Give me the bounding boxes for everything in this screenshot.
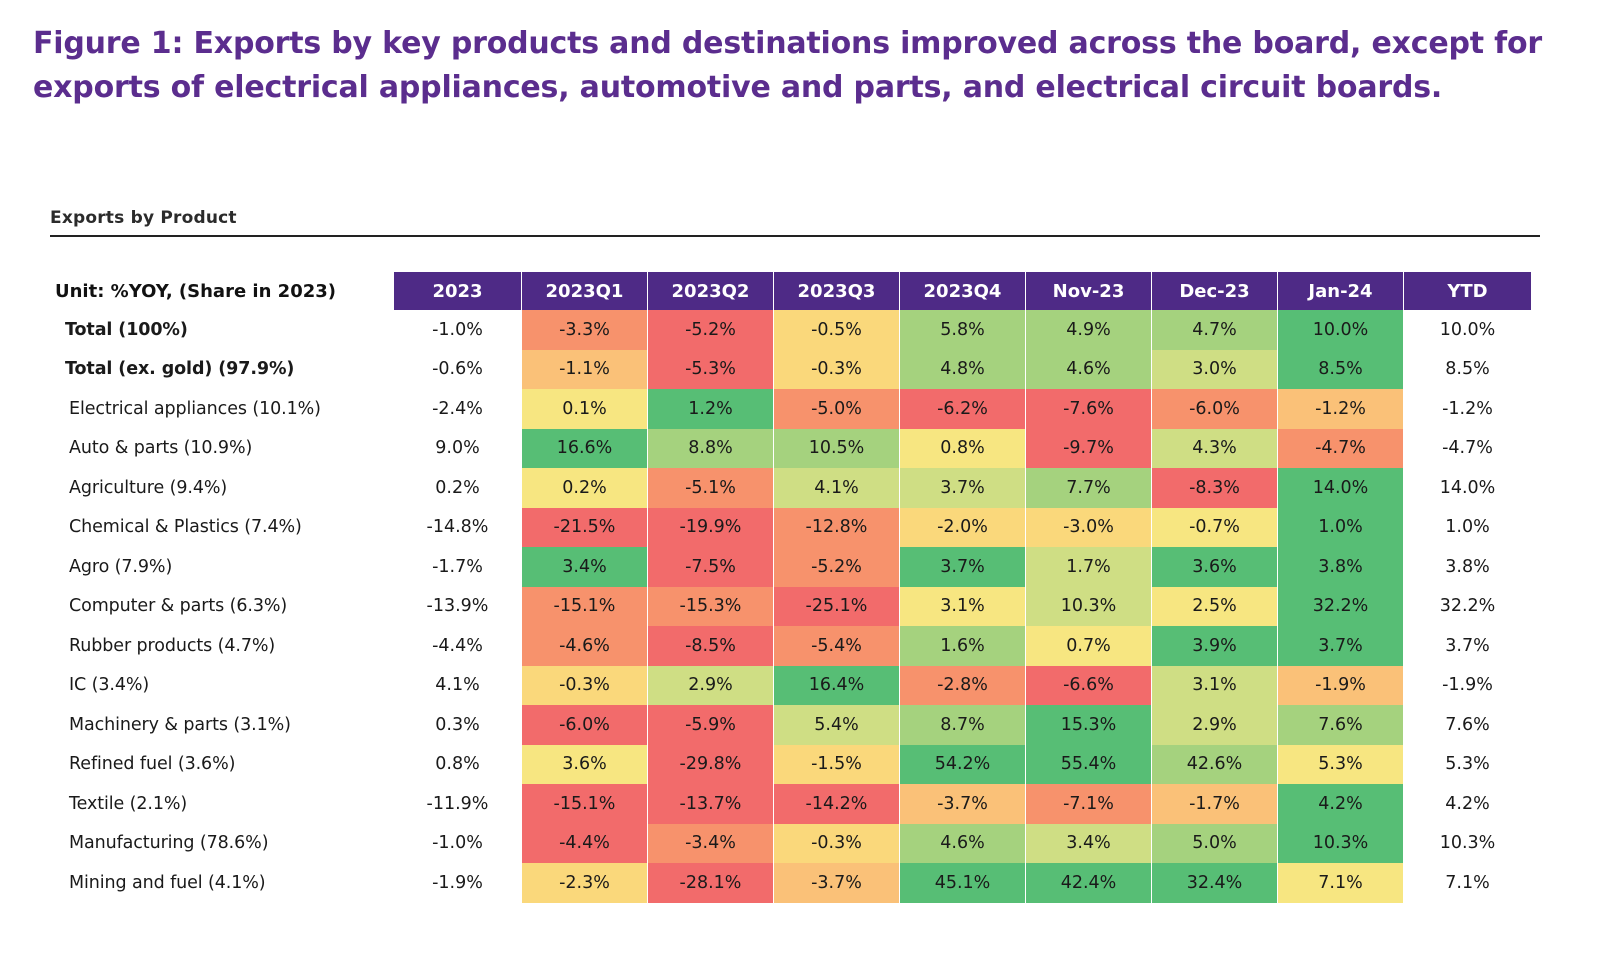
cell-value: 55.4% [1026, 745, 1151, 785]
cell-value: 32.2% [1404, 587, 1531, 627]
cell-value: 4.8% [900, 350, 1025, 390]
table-row: Chemical & Plastics (7.4%)-14.8%-21.5%-1… [51, 508, 1531, 548]
cell-value: 14.0% [1278, 468, 1403, 508]
section-label: Exports by Product [50, 208, 1540, 235]
cell-value: -2.3% [522, 863, 647, 903]
cell-value: 5.0% [1152, 824, 1277, 864]
cell-value: 15.3% [1026, 705, 1151, 745]
cell-value: 10.3% [1026, 587, 1151, 627]
cell-value: -6.2% [900, 389, 1025, 429]
cell-value: -15.1% [522, 784, 647, 824]
table-row: Textile (2.1%)-11.9%-15.1%-13.7%-14.2%-3… [51, 784, 1531, 824]
cell-value: 2.9% [1152, 705, 1277, 745]
row-label: Textile (2.1%) [51, 784, 393, 824]
table-row: Total (100%)-1.0%-3.3%-5.2%-0.5%5.8%4.9%… [51, 310, 1531, 350]
cell-value: -5.4% [774, 626, 899, 666]
column-header-2023q1: 2023Q1 [522, 272, 647, 310]
table-row: IC (3.4%)4.1%-0.3%2.9%16.4%-2.8%-6.6%3.1… [51, 666, 1531, 706]
row-label: Computer & parts (6.3%) [51, 587, 393, 627]
cell-value: -0.3% [522, 666, 647, 706]
cell-value: -1.9% [394, 863, 521, 903]
cell-value: -5.3% [648, 350, 773, 390]
row-label: Auto & parts (10.9%) [51, 429, 393, 469]
cell-value: 10.5% [774, 429, 899, 469]
cell-value: 14.0% [1404, 468, 1531, 508]
column-header-dec-23: Dec-23 [1152, 272, 1277, 310]
cell-value: 10.0% [1404, 310, 1531, 350]
cell-value: 7.6% [1404, 705, 1531, 745]
exports-by-product-table: Unit: %YOY, (Share in 2023) 20232023Q120… [50, 272, 1532, 903]
cell-value: -2.8% [900, 666, 1025, 706]
cell-value: 16.6% [522, 429, 647, 469]
cell-value: 4.3% [1152, 429, 1277, 469]
cell-value: -0.3% [774, 824, 899, 864]
cell-value: -4.4% [394, 626, 521, 666]
cell-value: -12.8% [774, 508, 899, 548]
section-divider [50, 235, 1540, 237]
cell-value: 3.7% [1404, 626, 1531, 666]
cell-value: -5.0% [774, 389, 899, 429]
cell-value: 4.6% [900, 824, 1025, 864]
cell-value: 1.2% [648, 389, 773, 429]
cell-value: -7.6% [1026, 389, 1151, 429]
cell-value: 3.7% [1278, 626, 1403, 666]
cell-value: 3.6% [522, 745, 647, 785]
table-header-row: Unit: %YOY, (Share in 2023) 20232023Q120… [51, 272, 1531, 310]
row-label: Agriculture (9.4%) [51, 468, 393, 508]
cell-value: -14.2% [774, 784, 899, 824]
row-label: Manufacturing (78.6%) [51, 824, 393, 864]
cell-value: -3.4% [648, 824, 773, 864]
table-body: Total (100%)-1.0%-3.3%-5.2%-0.5%5.8%4.9%… [51, 310, 1531, 903]
cell-value: 0.7% [1026, 626, 1151, 666]
cell-value: -2.4% [394, 389, 521, 429]
cell-value: -25.1% [774, 587, 899, 627]
cell-value: -1.0% [394, 824, 521, 864]
cell-value: 8.7% [900, 705, 1025, 745]
cell-value: 2.9% [648, 666, 773, 706]
cell-value: -6.6% [1026, 666, 1151, 706]
cell-value: 10.0% [1278, 310, 1403, 350]
row-label: Rubber products (4.7%) [51, 626, 393, 666]
cell-value: 5.8% [900, 310, 1025, 350]
cell-value: 2.5% [1152, 587, 1277, 627]
column-header-ytd: YTD [1404, 272, 1531, 310]
cell-value: -8.3% [1152, 468, 1277, 508]
cell-value: -6.0% [522, 705, 647, 745]
cell-value: 3.1% [900, 587, 1025, 627]
cell-value: 3.8% [1404, 547, 1531, 587]
exports-table-wrap: Unit: %YOY, (Share in 2023) 20232023Q120… [50, 272, 1550, 903]
figure-page: Figure 1: Exports by key products and de… [0, 0, 1601, 956]
table-row: Agriculture (9.4%)0.2%0.2%-5.1%4.1%3.7%7… [51, 468, 1531, 508]
cell-value: 8.8% [648, 429, 773, 469]
row-label: IC (3.4%) [51, 666, 393, 706]
cell-value: -1.9% [1278, 666, 1403, 706]
cell-value: 3.1% [1152, 666, 1277, 706]
figure-title-line-2: exports of electrical appliances, automo… [33, 66, 1553, 110]
cell-value: 0.1% [522, 389, 647, 429]
unit-header: Unit: %YOY, (Share in 2023) [51, 272, 393, 310]
column-header-2023q2: 2023Q2 [648, 272, 773, 310]
section-header: Exports by Product [50, 208, 1540, 237]
row-label: Agro (7.9%) [51, 547, 393, 587]
cell-value: 3.4% [522, 547, 647, 587]
table-row: Mining and fuel (4.1%)-1.9%-2.3%-28.1%-3… [51, 863, 1531, 903]
row-label: Total (ex. gold) (97.9%) [51, 350, 393, 390]
cell-value: -1.1% [522, 350, 647, 390]
row-label: Refined fuel (3.6%) [51, 745, 393, 785]
cell-value: -1.7% [394, 547, 521, 587]
cell-value: -29.8% [648, 745, 773, 785]
cell-value: -13.9% [394, 587, 521, 627]
cell-value: 10.3% [1278, 824, 1403, 864]
cell-value: -1.2% [1278, 389, 1403, 429]
cell-value: -4.7% [1278, 429, 1403, 469]
cell-value: 1.0% [1278, 508, 1403, 548]
cell-value: -0.3% [774, 350, 899, 390]
cell-value: -5.2% [774, 547, 899, 587]
cell-value: 0.3% [394, 705, 521, 745]
cell-value: -1.7% [1152, 784, 1277, 824]
cell-value: 8.5% [1404, 350, 1531, 390]
cell-value: 54.2% [900, 745, 1025, 785]
table-row: Rubber products (4.7%)-4.4%-4.6%-8.5%-5.… [51, 626, 1531, 666]
table-header: Unit: %YOY, (Share in 2023) 20232023Q120… [51, 272, 1531, 310]
cell-value: -21.5% [522, 508, 647, 548]
cell-value: 3.8% [1278, 547, 1403, 587]
cell-value: 3.4% [1026, 824, 1151, 864]
cell-value: 0.2% [394, 468, 521, 508]
cell-value: 4.9% [1026, 310, 1151, 350]
cell-value: 0.8% [900, 429, 1025, 469]
cell-value: 5.4% [774, 705, 899, 745]
cell-value: 5.3% [1278, 745, 1403, 785]
cell-value: -1.9% [1404, 666, 1531, 706]
cell-value: 3.7% [900, 468, 1025, 508]
cell-value: 0.2% [522, 468, 647, 508]
cell-value: -15.1% [522, 587, 647, 627]
cell-value: 3.7% [900, 547, 1025, 587]
cell-value: 4.2% [1404, 784, 1531, 824]
cell-value: -13.7% [648, 784, 773, 824]
cell-value: -7.5% [648, 547, 773, 587]
table-row: Total (ex. gold) (97.9%)-0.6%-1.1%-5.3%-… [51, 350, 1531, 390]
table-row: Agro (7.9%)-1.7%3.4%-7.5%-5.2%3.7%1.7%3.… [51, 547, 1531, 587]
row-label: Electrical appliances (10.1%) [51, 389, 393, 429]
cell-value: 7.7% [1026, 468, 1151, 508]
cell-value: -1.5% [774, 745, 899, 785]
column-header-2023: 2023 [394, 272, 521, 310]
cell-value: -5.9% [648, 705, 773, 745]
cell-value: 3.0% [1152, 350, 1277, 390]
cell-value: 3.6% [1152, 547, 1277, 587]
cell-value: 10.3% [1404, 824, 1531, 864]
cell-value: 3.9% [1152, 626, 1277, 666]
row-label: Mining and fuel (4.1%) [51, 863, 393, 903]
cell-value: -4.6% [522, 626, 647, 666]
cell-value: -11.9% [394, 784, 521, 824]
cell-value: 5.3% [1404, 745, 1531, 785]
cell-value: 4.6% [1026, 350, 1151, 390]
cell-value: 4.1% [394, 666, 521, 706]
figure-title-line-1: Figure 1: Exports by key products and de… [33, 22, 1553, 66]
figure-title: Figure 1: Exports by key products and de… [33, 22, 1553, 109]
column-header-jan-24: Jan-24 [1278, 272, 1403, 310]
cell-value: 32.2% [1278, 587, 1403, 627]
cell-value: -9.7% [1026, 429, 1151, 469]
row-label: Total (100%) [51, 310, 393, 350]
cell-value: 42.6% [1152, 745, 1277, 785]
cell-value: -8.5% [648, 626, 773, 666]
table-row: Manufacturing (78.6%)-1.0%-4.4%-3.4%-0.3… [51, 824, 1531, 864]
cell-value: -28.1% [648, 863, 773, 903]
cell-value: -15.3% [648, 587, 773, 627]
cell-value: 9.0% [394, 429, 521, 469]
cell-value: 16.4% [774, 666, 899, 706]
cell-value: -1.2% [1404, 389, 1531, 429]
column-header-2023q3: 2023Q3 [774, 272, 899, 310]
cell-value: -7.1% [1026, 784, 1151, 824]
cell-value: -3.7% [900, 784, 1025, 824]
column-header-nov-23: Nov-23 [1026, 272, 1151, 310]
cell-value: -0.5% [774, 310, 899, 350]
cell-value: 0.8% [394, 745, 521, 785]
column-header-2023q4: 2023Q4 [900, 272, 1025, 310]
cell-value: 42.4% [1026, 863, 1151, 903]
cell-value: -14.8% [394, 508, 521, 548]
cell-value: 1.0% [1404, 508, 1531, 548]
cell-value: 4.1% [774, 468, 899, 508]
table-row: Auto & parts (10.9%)9.0%16.6%8.8%10.5%0.… [51, 429, 1531, 469]
cell-value: 1.6% [900, 626, 1025, 666]
cell-value: 4.2% [1278, 784, 1403, 824]
cell-value: 7.6% [1278, 705, 1403, 745]
cell-value: 7.1% [1278, 863, 1403, 903]
cell-value: -0.7% [1152, 508, 1277, 548]
cell-value: 32.4% [1152, 863, 1277, 903]
cell-value: -6.0% [1152, 389, 1277, 429]
row-label: Chemical & Plastics (7.4%) [51, 508, 393, 548]
cell-value: 45.1% [900, 863, 1025, 903]
cell-value: -2.0% [900, 508, 1025, 548]
row-label: Machinery & parts (3.1%) [51, 705, 393, 745]
cell-value: -4.7% [1404, 429, 1531, 469]
cell-value: 4.7% [1152, 310, 1277, 350]
cell-value: -5.2% [648, 310, 773, 350]
cell-value: 8.5% [1278, 350, 1403, 390]
cell-value: -5.1% [648, 468, 773, 508]
cell-value: -0.6% [394, 350, 521, 390]
table-row: Refined fuel (3.6%)0.8%3.6%-29.8%-1.5%54… [51, 745, 1531, 785]
cell-value: 7.1% [1404, 863, 1531, 903]
cell-value: 1.7% [1026, 547, 1151, 587]
cell-value: -4.4% [522, 824, 647, 864]
cell-value: -3.0% [1026, 508, 1151, 548]
cell-value: -3.3% [522, 310, 647, 350]
table-row: Machinery & parts (3.1%)0.3%-6.0%-5.9%5.… [51, 705, 1531, 745]
table-row: Electrical appliances (10.1%)-2.4%0.1%1.… [51, 389, 1531, 429]
table-row: Computer & parts (6.3%)-13.9%-15.1%-15.3… [51, 587, 1531, 627]
cell-value: -19.9% [648, 508, 773, 548]
cell-value: -3.7% [774, 863, 899, 903]
cell-value: -1.0% [394, 310, 521, 350]
